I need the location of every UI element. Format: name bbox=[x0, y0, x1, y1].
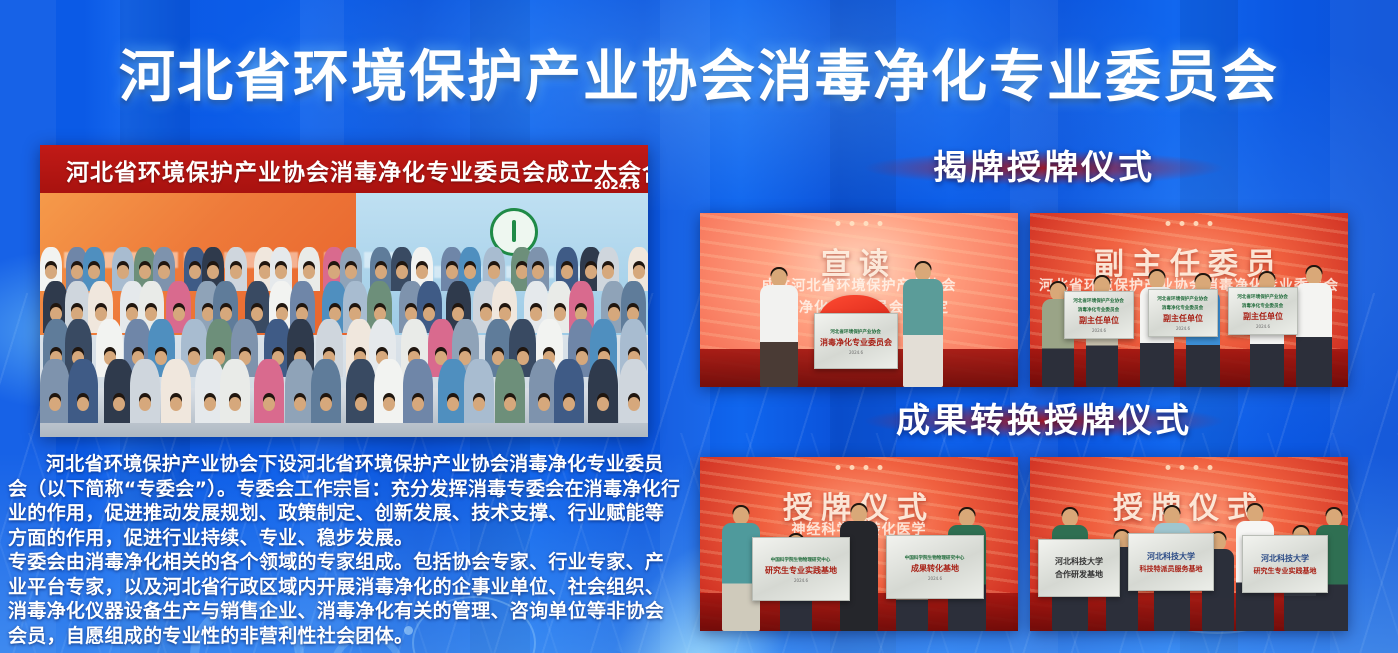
plaque-name: 消毒净化专业委员会 bbox=[820, 337, 892, 348]
plaque-committee: 河北省环境保护产业协会 消毒净化专业委员会 2024.6 bbox=[814, 313, 898, 369]
plaque-sub: 消毒净化专业委员会 bbox=[1242, 302, 1283, 308]
plaque-org: 河北科技大学 bbox=[1261, 553, 1309, 564]
poster-title: 河北省环境保护产业协会消毒净化专业委员会 bbox=[0, 48, 1398, 108]
group-photo-date: 2024.6 bbox=[594, 178, 640, 192]
plaque-sub: 消毒净化专业委员会 bbox=[1078, 306, 1119, 312]
section-heading-1: 揭牌授牌仪式 bbox=[690, 145, 1398, 191]
description-paragraph-1: 河北省环境保护产业协会下设河北省环境保护产业协会消毒净化专业委员会（以下简称“专… bbox=[8, 452, 682, 550]
plaque-org: 河北省环境保护产业协会 bbox=[1238, 293, 1289, 299]
plaque-date: 2024.6 bbox=[1176, 326, 1190, 331]
plaque-graduate-practice-base-2: 河北科技大学 研究生专业实践基地 bbox=[1242, 535, 1328, 593]
stage-line-1a: 成立河北省环境保护产业协会 bbox=[700, 275, 1018, 295]
plaque-org: 河北科技大学 bbox=[1147, 551, 1195, 562]
photo-vice-chair-award: 副主任委员 河北省环境保护产业协会消毒净化专业委员会 河北省环境保护产业协会 消… bbox=[1030, 213, 1348, 387]
plaque-org: 河北科技大学 bbox=[1055, 556, 1103, 567]
section-heading-1-label: 揭牌授牌仪式 bbox=[690, 145, 1398, 191]
plaque-date: 2024.6 bbox=[794, 578, 808, 583]
plaque-org: 中国科学院生物物理研究中心 bbox=[905, 554, 965, 560]
plaque-org: 河北省环境保护产业协会 bbox=[831, 328, 882, 334]
plaque-title: 副主任单位 bbox=[1163, 313, 1203, 324]
plaque-vice-chair-1: 河北省环境保护产业协会 消毒净化专业委员会 副主任单位 2024.6 bbox=[1064, 291, 1134, 339]
plaque-date: 2024.6 bbox=[849, 350, 863, 355]
plaque-title: 研究生专业实践基地 bbox=[1254, 566, 1317, 576]
plaque-title: 成果转化基地 bbox=[911, 563, 959, 574]
plaque-org: 河北省环境保护产业协会 bbox=[1074, 297, 1125, 303]
photo-transformation-award-2: 授牌仪式 河北科技大学 合作研发基地 河北科技大学 科技特派员服务基地 河北科技… bbox=[1030, 457, 1348, 631]
section-heading-2: 成果转换授牌仪式 bbox=[690, 398, 1398, 444]
plaque-coop-rnd-base: 河北科技大学 合作研发基地 bbox=[1038, 539, 1120, 597]
plaque-date: 2024.6 bbox=[1256, 324, 1270, 329]
group-photo-card: 河北省环境保护产业协会消毒净化专业委员会成立大会合影 2024.6 bbox=[40, 145, 648, 437]
plaque-title: 副主任单位 bbox=[1079, 315, 1119, 326]
plaque-org: 河北省环境保护产业协会 bbox=[1158, 295, 1209, 301]
group-photo-banner-title: 河北省环境保护产业协会消毒净化专业委员会成立大会合影 bbox=[66, 153, 590, 187]
group-photo-image bbox=[40, 193, 648, 437]
plaque-tech-commissioner-base: 河北科技大学 科技特派员服务基地 bbox=[1128, 533, 1214, 591]
plaque-transformation-base: 中国科学院生物物理研究中心 成果转化基地 2024.6 bbox=[886, 535, 984, 599]
plaque-title: 科技特派员服务基地 bbox=[1140, 564, 1203, 574]
plaque-graduate-practice-base: 中国科学院生物物理研究中心 研究生专业实践基地 2024.6 bbox=[752, 537, 850, 601]
crowd-row bbox=[40, 345, 648, 423]
plaque-title: 合作研发基地 bbox=[1055, 569, 1103, 580]
plaque-vice-chair-3: 河北省环境保护产业协会 消毒净化专业委员会 副主任单位 2024.6 bbox=[1228, 287, 1298, 335]
photo-unveiling-ceremony: 宣读 成立河北省环境保护产业协会 消毒净化专业委员会的决定 河北省环境保护产业协… bbox=[700, 213, 1018, 387]
description-text: 河北省环境保护产业协会下设河北省环境保护产业协会消毒净化专业委员会（以下简称“专… bbox=[8, 452, 682, 648]
photo-transformation-award-1: 授牌仪式 神经科学与转化医学 中国科学院生物物理研究中心 研究生专业实践基地 2… bbox=[700, 457, 1018, 631]
plaque-date: 2024.6 bbox=[1092, 328, 1106, 333]
plaque-date: 2024.6 bbox=[928, 576, 942, 581]
plaque-title: 副主任单位 bbox=[1243, 311, 1283, 322]
plaque-org: 中国科学院生物物理研究中心 bbox=[771, 556, 831, 562]
plaque-vice-chair-2: 河北省环境保护产业协会 消毒净化专业委员会 副主任单位 2024.6 bbox=[1148, 289, 1218, 337]
description-paragraph-2: 专委会由消毒净化相关的各个领域的专家组成。包括协会专家、行业专家、产业平台专家，… bbox=[8, 550, 682, 648]
group-photo-banner: 河北省环境保护产业协会消毒净化专业委员会成立大会合影 2024.6 bbox=[40, 145, 648, 193]
plaque-title: 研究生专业实践基地 bbox=[765, 565, 837, 576]
section-heading-2-label: 成果转换授牌仪式 bbox=[690, 398, 1398, 444]
plaque-sub: 消毒净化专业委员会 bbox=[1162, 304, 1203, 310]
